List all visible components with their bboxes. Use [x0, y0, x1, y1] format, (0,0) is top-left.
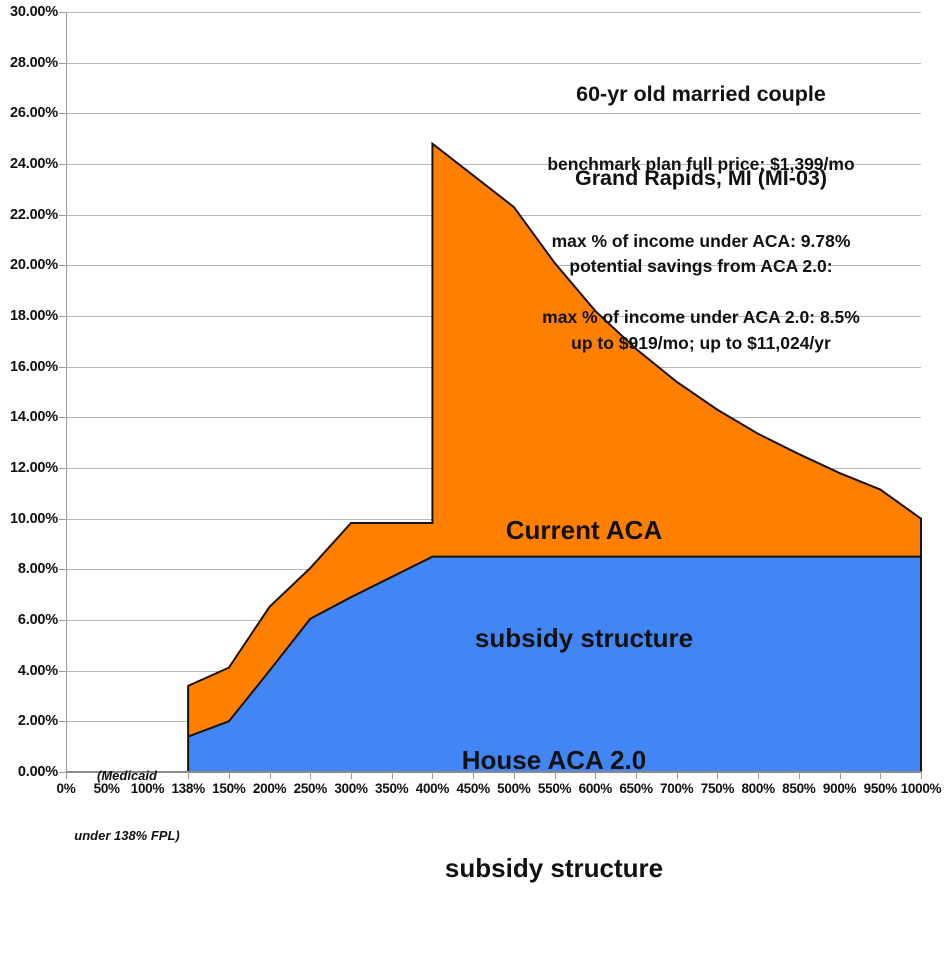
benchmark-price-line: benchmark plan full price: $1,399/mo	[481, 152, 921, 178]
x-axis-tick	[840, 772, 841, 779]
y-axis-tick	[59, 265, 66, 266]
x-axis-tick	[351, 772, 352, 779]
x-axis-label: 900%	[823, 781, 856, 796]
y-axis-tick	[59, 620, 66, 621]
house-aca20-series-label: House ACA 2.0 subsidy structure	[374, 670, 734, 958]
y-axis-tick	[59, 113, 66, 114]
y-axis-tick	[59, 12, 66, 13]
y-axis-label: 16.00%	[10, 359, 58, 375]
current-aca-label-line-1: Current ACA	[404, 512, 764, 548]
x-axis-label: 150%	[212, 781, 245, 796]
y-axis-labels: 0.00%2.00%4.00%6.00%8.00%10.00%12.00%14.…	[0, 0, 58, 808]
x-axis-label: 250%	[294, 781, 327, 796]
y-axis-label: 28.00%	[10, 55, 58, 71]
y-axis-label: 20.00%	[10, 257, 58, 273]
y-axis-label: 2.00%	[18, 713, 58, 729]
y-axis-tick	[59, 316, 66, 317]
x-axis-tick	[229, 772, 230, 779]
x-axis-tick	[880, 772, 881, 779]
savings-line-2: up to $919/mo; up to $11,024/yr	[481, 331, 921, 357]
medicaid-line-2: under 138% FPL)	[62, 826, 192, 846]
house-aca20-label-line-2: subsidy structure	[374, 850, 734, 886]
y-axis-label: 30.00%	[10, 4, 58, 20]
x-axis-label: 1000%	[901, 781, 942, 796]
y-axis-tick	[59, 468, 66, 469]
y-axis-tick	[59, 417, 66, 418]
x-axis-label: 800%	[741, 781, 774, 796]
y-axis-tick	[59, 671, 66, 672]
x-axis-tick	[310, 772, 311, 779]
medicaid-line-1: (Medicaid	[62, 766, 192, 786]
y-axis-tick	[59, 519, 66, 520]
x-axis-label: 300%	[334, 781, 367, 796]
y-axis-label: 18.00%	[10, 308, 58, 324]
y-axis-label: 26.00%	[10, 105, 58, 121]
y-axis-tick	[59, 63, 66, 64]
potential-savings-annotation: potential savings from ACA 2.0: up to $9…	[481, 203, 921, 407]
y-axis-tick	[59, 721, 66, 722]
y-axis-label: 4.00%	[18, 663, 58, 679]
y-axis-label: 6.00%	[18, 612, 58, 628]
medicaid-region-annotation: (Medicaid under 138% FPL)	[62, 726, 192, 886]
y-axis-label: 24.00%	[10, 156, 58, 172]
y-axis-label: 22.00%	[10, 207, 58, 223]
current-aca-label-line-2: subsidy structure	[404, 620, 764, 656]
y-axis-tick	[59, 367, 66, 368]
y-axis-tick	[59, 569, 66, 570]
y-axis-label: 12.00%	[10, 460, 58, 476]
house-aca20-label-line-1: House ACA 2.0	[374, 742, 734, 778]
savings-line-1: potential savings from ACA 2.0:	[481, 254, 921, 280]
y-axis-label: 8.00%	[18, 561, 58, 577]
y-axis-label: 10.00%	[10, 511, 58, 527]
x-axis-label: 200%	[253, 781, 286, 796]
chart-canvas: 0.00%2.00%4.00%6.00%8.00%10.00%12.00%14.…	[0, 0, 947, 808]
x-axis-tick	[921, 772, 922, 779]
x-axis-tick	[758, 772, 759, 779]
y-axis-tick	[59, 215, 66, 216]
x-axis-tick	[799, 772, 800, 779]
y-axis-tick	[59, 164, 66, 165]
y-axis-label: 14.00%	[10, 409, 58, 425]
x-axis-label: 950%	[864, 781, 897, 796]
x-axis-tick	[270, 772, 271, 779]
x-axis-label: 850%	[782, 781, 815, 796]
